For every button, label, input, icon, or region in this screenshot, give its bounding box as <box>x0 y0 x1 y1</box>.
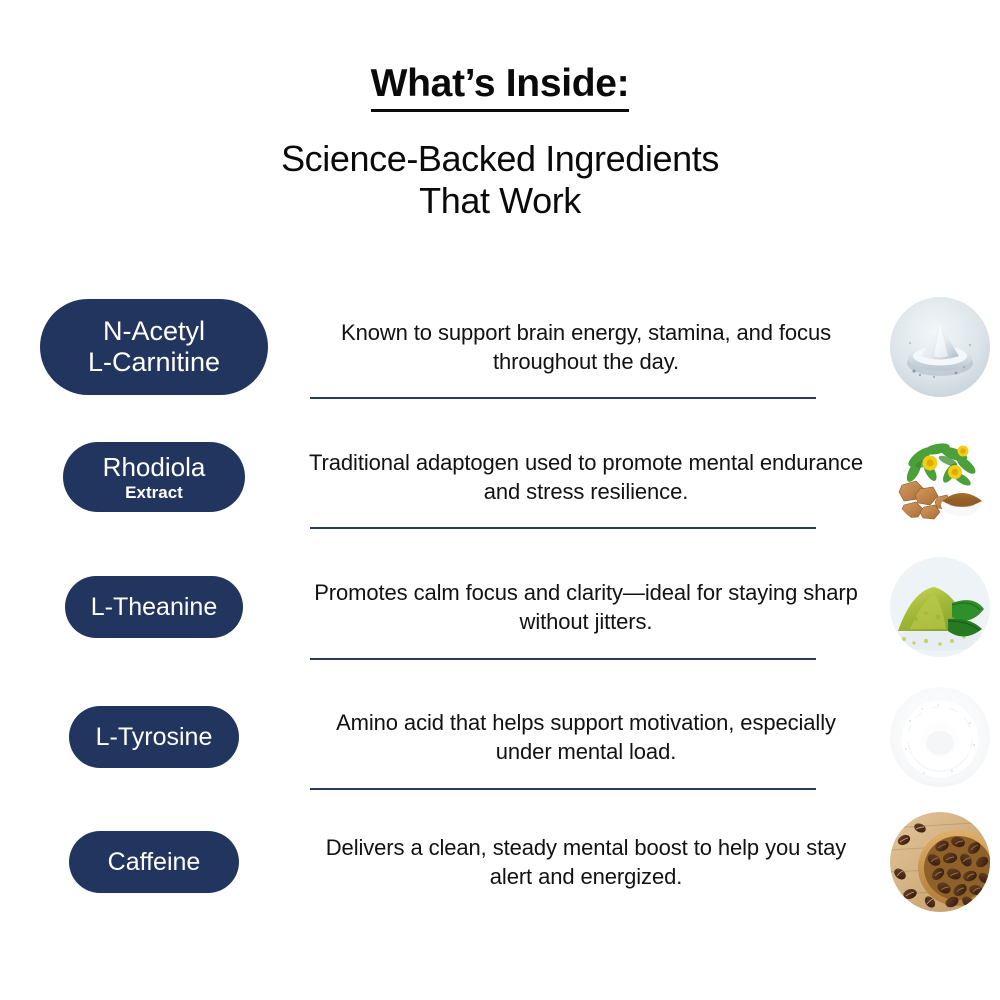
ingredient-name-cell: Caffeine <box>0 831 300 893</box>
white-powder-in-dish-image <box>890 297 990 397</box>
ingredient-description: Delivers a clean, steady mental boost to… <box>300 833 880 892</box>
white-powder-ring-image <box>890 687 990 787</box>
ingredient-name-pill[interactable]: N-Acetyl L-Carnitine <box>40 299 268 395</box>
subtitle-line-1: Science-Backed Ingredients <box>281 138 719 179</box>
ingredient-description: Amino acid that helps support motivation… <box>300 708 880 767</box>
ingredient-image-cell <box>880 557 1000 657</box>
ingredient-row: L-Theanine Promotes calm focus and clari… <box>0 542 1000 672</box>
ingredient-name-pill[interactable]: Caffeine <box>69 831 239 893</box>
ingredient-description: Traditional adaptogen used to promote me… <box>300 448 880 507</box>
ingredient-description: Known to support brain energy, stamina, … <box>300 318 880 377</box>
header: What’s Inside: Science-Backed Ingredient… <box>0 62 1000 223</box>
ingredient-row: Rhodiola Extract Traditional adaptogen u… <box>0 412 1000 542</box>
pill-line-1: L-Tyrosine <box>96 723 213 752</box>
ingredient-name-cell: L-Theanine <box>0 576 300 638</box>
page-title: What’s Inside: <box>371 62 630 112</box>
subtitle-line-2: That Work <box>419 180 581 221</box>
ingredient-row: Caffeine Delivers a clean, steady mental… <box>0 802 1000 922</box>
green-tea-powder-leaves-image <box>890 557 990 657</box>
pill-line-1: N-Acetyl <box>103 316 205 347</box>
ingredient-list: N-Acetyl L-Carnitine Known to support br… <box>0 282 1000 922</box>
ingredient-row: L-Tyrosine Amino acid that helps support… <box>0 672 1000 802</box>
ingredient-name-cell: Rhodiola Extract <box>0 442 300 512</box>
ingredient-image-cell <box>880 812 1000 912</box>
ingredient-name-pill[interactable]: L-Tyrosine <box>69 706 239 768</box>
ingredient-name-cell: L-Tyrosine <box>0 706 300 768</box>
pill-line-2: L-Carnitine <box>88 347 220 378</box>
ingredient-name-pill[interactable]: L-Theanine <box>65 576 243 638</box>
pill-line-1: Caffeine <box>108 848 201 877</box>
coffee-beans-wooden-bowl-image <box>890 812 990 912</box>
pill-line-1: L-Theanine <box>91 593 217 622</box>
ingredients-infographic: What’s Inside: Science-Backed Ingredient… <box>0 0 1000 1000</box>
rhodiola-flowers-root-powder-image <box>890 427 990 527</box>
ingredient-image-cell <box>880 687 1000 787</box>
page-subtitle: Science-Backed Ingredients That Work <box>0 138 1000 223</box>
ingredient-description: Promotes calm focus and clarity—ideal fo… <box>300 578 880 637</box>
ingredient-name-pill[interactable]: Rhodiola Extract <box>63 442 245 512</box>
ingredient-row: N-Acetyl L-Carnitine Known to support br… <box>0 282 1000 412</box>
pill-line-2: Extract <box>125 483 183 503</box>
ingredient-image-cell <box>880 427 1000 527</box>
ingredient-name-cell: N-Acetyl L-Carnitine <box>0 299 300 395</box>
ingredient-image-cell <box>880 297 1000 397</box>
pill-line-1: Rhodiola <box>103 452 206 482</box>
